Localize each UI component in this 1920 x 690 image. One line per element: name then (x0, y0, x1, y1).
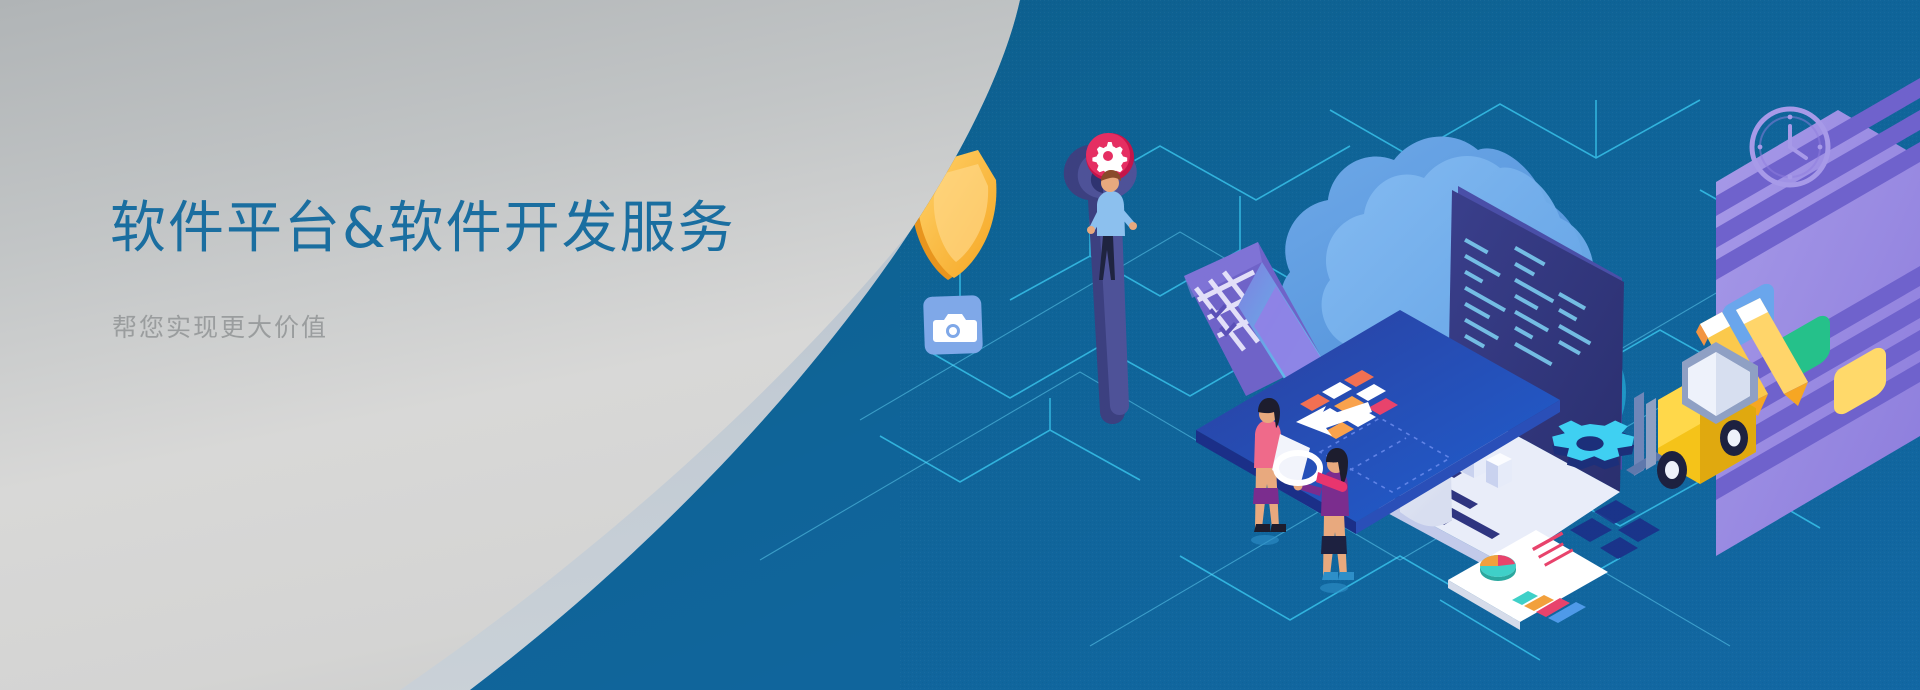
hero-banner: 软件平台&软件开发服务 帮您实现更大价值 (0, 0, 1920, 690)
camera-tile-icon (923, 295, 983, 355)
page-title: 软件平台&软件开发服务 (110, 196, 870, 262)
page-subtitle: 帮您实现更大价值 (112, 308, 870, 344)
hero-text-block: 软件平台&软件开发服务 帮您实现更大价值 (110, 196, 870, 344)
banner-artwork (0, 0, 1920, 690)
news-pie-chart (1480, 555, 1516, 581)
